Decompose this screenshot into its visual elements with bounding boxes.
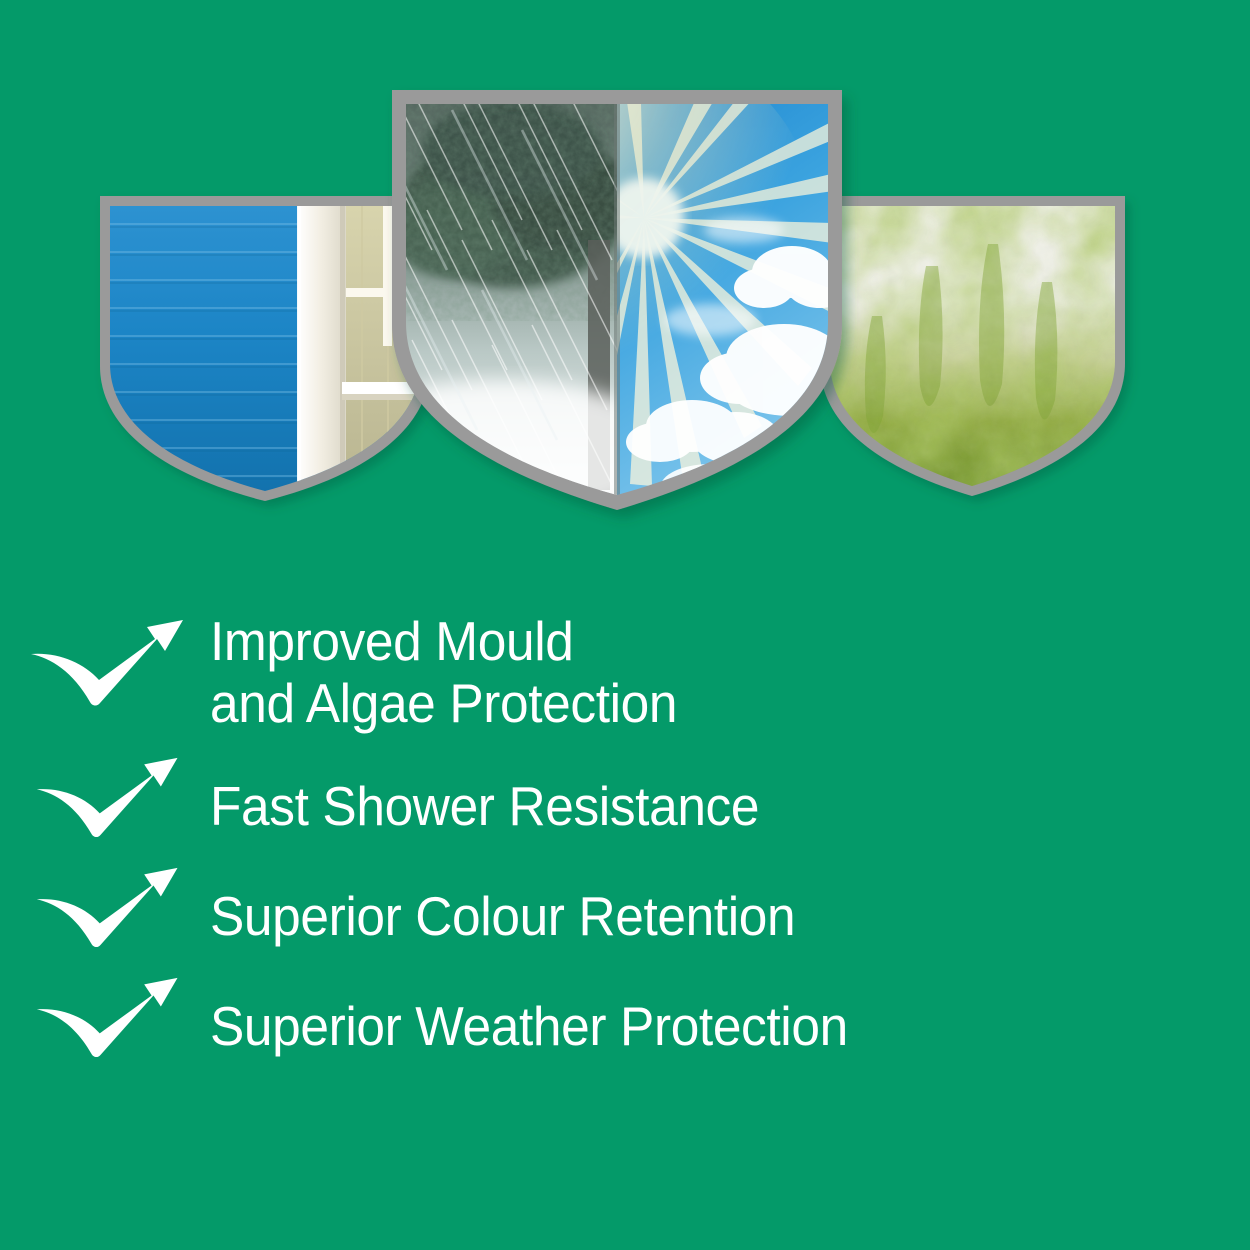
check-arrow-icon (0, 618, 210, 726)
shield-group (0, 0, 1250, 560)
benefit-label: Superior Weather Protection (210, 995, 848, 1057)
benefit-item: Superior Weather Protection (0, 974, 1250, 1078)
benefit-label: Fast Shower Resistance (210, 775, 759, 837)
check-arrow-icon (0, 866, 210, 966)
benefit-label: Improved Mould and Algae Protection (210, 610, 677, 734)
shield-image-algae (820, 196, 1125, 496)
painted-brick-wall-shield (100, 196, 430, 501)
check-arrow-icon (0, 976, 210, 1076)
benefit-item: Improved Mould and Algae Protection (0, 598, 1250, 746)
shield-image-brick (100, 196, 432, 501)
benefit-label: Superior Colour Retention (210, 885, 795, 947)
weather-rain-and-sun-shield (392, 90, 842, 510)
algae-mould-wall-shield (820, 196, 1125, 496)
benefit-item: Superior Colour Retention (0, 864, 1250, 968)
check-arrow-icon (0, 756, 210, 856)
benefit-item: Fast Shower Resistance (0, 754, 1250, 858)
shield-image-weather (332, 38, 882, 520)
benefits-panel: Improved Mould and Algae Protection Fast… (0, 0, 1250, 1250)
benefits-list: Improved Mould and Algae Protection Fast… (0, 598, 1250, 1078)
